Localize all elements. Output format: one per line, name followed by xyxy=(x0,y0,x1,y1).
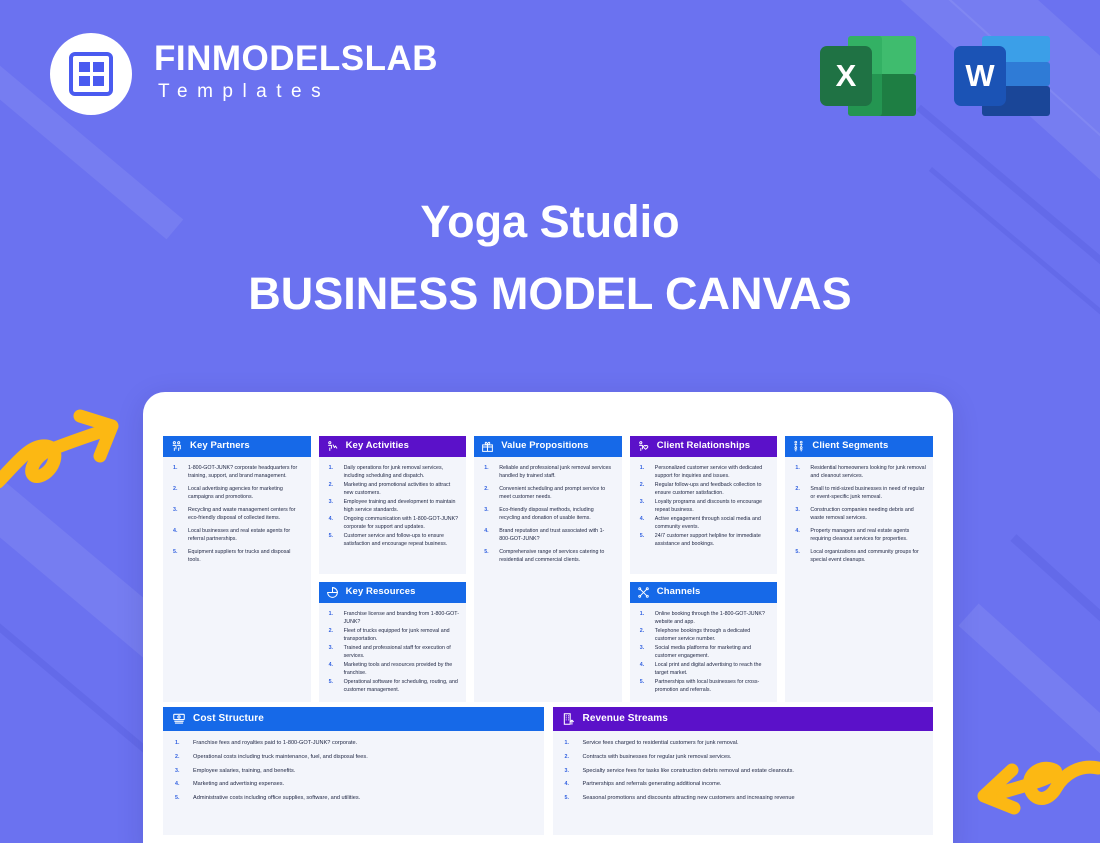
block-title: Client Relationships xyxy=(657,441,750,452)
list-item: Recycling and waste management centers f… xyxy=(171,506,304,522)
block-items: Personalized customer service with dedic… xyxy=(630,457,778,574)
block-key-resources[interactable]: Key Resources Franchise license and bran… xyxy=(319,582,467,702)
list-item: Fleet of trucks equipped for junk remova… xyxy=(327,627,460,643)
block-title: Channels xyxy=(657,587,701,598)
list-item: 24/7 customer support helpline for immed… xyxy=(638,532,771,548)
list-item: Eco-friendly disposal methods, including… xyxy=(482,506,615,522)
block-items: Online booking through the 1-800-GOT-JUN… xyxy=(630,603,778,702)
block-items: Franchise license and branding from 1-80… xyxy=(319,603,467,702)
list-item: Social media platforms for marketing and… xyxy=(638,644,771,660)
block-header: Key Resources xyxy=(319,582,467,603)
word-letter: W xyxy=(954,46,1006,106)
block-header: Revenue Streams xyxy=(553,707,934,731)
list-item: Equipment suppliers for trucks and dispo… xyxy=(171,548,304,564)
list-item: Telephone bookings through a dedicated c… xyxy=(638,627,771,643)
list-item: Operational costs including truck mainte… xyxy=(173,754,534,761)
canvas-column-5: Client Segments Residential homeowners l… xyxy=(785,436,933,702)
list-item: Convenient scheduling and prompt service… xyxy=(482,485,615,501)
money-in-icon xyxy=(562,712,576,726)
block-items: Residential homeowners looking for junk … xyxy=(785,457,933,702)
poster-stage: FINMODELSLAB Templates X W Yoga Studio B… xyxy=(0,0,1100,843)
list-item: Comprehensive range of services catering… xyxy=(482,548,615,564)
block-header: Key Partners xyxy=(163,436,311,457)
block-header: Cost Structure xyxy=(163,707,544,731)
canvas-top-grid: Key Partners 1-800-GOT-JUNK? corporate h… xyxy=(163,436,933,698)
list-item: Franchise fees and royalties paid to 1-8… xyxy=(173,740,534,747)
list-item: 1-800-GOT-JUNK? corporate headquarters f… xyxy=(171,464,304,480)
block-title: Cost Structure xyxy=(193,713,264,725)
brush-stroke xyxy=(1010,534,1100,715)
grid-squares-icon xyxy=(50,33,132,115)
brand-tagline: Templates xyxy=(154,78,438,107)
brand-name: FINMODELSLAB xyxy=(154,41,438,78)
block-title: Client Segments xyxy=(812,441,888,452)
word-icon: W xyxy=(954,30,1050,122)
block-header: Client Relationships xyxy=(630,436,778,457)
list-item: Local advertising agencies for marketing… xyxy=(171,485,304,501)
block-cost-structure[interactable]: Cost Structure Franchise fees and royalt… xyxy=(163,707,544,835)
cash-stack-icon xyxy=(172,712,186,726)
block-title: Revenue Streams xyxy=(583,713,668,725)
brand-logo: FINMODELSLAB Templates xyxy=(50,33,438,115)
block-revenue-streams[interactable]: Revenue Streams Service fees charged to … xyxy=(553,707,934,835)
canvas-column-4: Client Relationships Personalized custom… xyxy=(630,436,778,702)
person-activity-icon xyxy=(326,440,339,453)
list-item: Contracts with businesses for regular ju… xyxy=(563,754,924,761)
block-header: Channels xyxy=(630,582,778,603)
business-model-canvas-sheet: Key Partners 1-800-GOT-JUNK? corporate h… xyxy=(143,392,953,843)
list-item: Small to mid-sized businesses in need of… xyxy=(793,485,926,501)
file-format-icons: X W xyxy=(820,30,1050,122)
list-item: Local print and digital advertising to r… xyxy=(638,661,771,677)
block-key-activities[interactable]: Key Activities Daily operations for junk… xyxy=(319,436,467,574)
list-item: Partnerships and referrals generating ad… xyxy=(563,781,924,788)
block-client-relationships[interactable]: Client Relationships Personalized custom… xyxy=(630,436,778,574)
list-item: Marketing and advertising expenses. xyxy=(173,781,534,788)
two-people-icon xyxy=(170,440,183,453)
list-item: Marketing tools and resources provided b… xyxy=(327,661,460,677)
block-header: Client Segments xyxy=(785,436,933,457)
list-item: Employee training and development to mai… xyxy=(327,498,460,514)
pie-chart-icon xyxy=(326,586,339,599)
list-item: Online booking through the 1-800-GOT-JUN… xyxy=(638,610,771,626)
canvas-column-3: Value Propositions Reliable and professi… xyxy=(474,436,622,702)
canvas-column-2: Key Activities Daily operations for junk… xyxy=(319,436,467,702)
list-item: Employee salaries, training, and benefit… xyxy=(173,768,534,775)
page-subtitle: BUSINESS MODEL CANVAS xyxy=(0,268,1100,320)
gift-icon xyxy=(481,440,494,453)
canvas-column-1: Key Partners 1-800-GOT-JUNK? corporate h… xyxy=(163,436,311,702)
block-value-propositions[interactable]: Value Propositions Reliable and professi… xyxy=(474,436,622,702)
list-item: Construction companies needing debris an… xyxy=(793,506,926,522)
person-heart-icon xyxy=(637,440,650,453)
list-item: Property managers and real estate agents… xyxy=(793,527,926,543)
list-item: Active engagement through social media a… xyxy=(638,515,771,531)
list-item: Specialty service fees for tasks like co… xyxy=(563,768,924,775)
list-item: Daily operations for junk removal servic… xyxy=(327,464,460,480)
list-item: Administrative costs including office su… xyxy=(173,795,534,802)
network-nodes-icon xyxy=(637,586,650,599)
block-header: Key Activities xyxy=(319,436,467,457)
list-item: Local organizations and community groups… xyxy=(793,548,926,564)
list-item: Franchise license and branding from 1-80… xyxy=(327,610,460,626)
block-items: Service fees charged to residential cust… xyxy=(553,731,934,835)
block-key-partners[interactable]: Key Partners 1-800-GOT-JUNK? corporate h… xyxy=(163,436,311,702)
excel-letter: X xyxy=(820,46,872,106)
canvas-bottom-grid: Cost Structure Franchise fees and royalt… xyxy=(163,707,933,835)
curvy-arrow-down-left-icon xyxy=(968,752,1100,843)
list-item: Marketing and promotional activities to … xyxy=(327,481,460,497)
block-channels[interactable]: Channels Online booking through the 1-80… xyxy=(630,582,778,702)
page-title: Yoga Studio xyxy=(0,196,1100,248)
block-items: Reliable and professional junk removal s… xyxy=(474,457,622,702)
excel-icon: X xyxy=(820,30,916,122)
list-item: Brand reputation and trust associated wi… xyxy=(482,527,615,543)
list-item: Customer service and follow-ups to ensur… xyxy=(327,532,460,548)
block-title: Value Propositions xyxy=(501,441,588,452)
block-items: Franchise fees and royalties paid to 1-8… xyxy=(163,731,544,835)
list-item: Reliable and professional junk removal s… xyxy=(482,464,615,480)
list-item: Local businesses and real estate agents … xyxy=(171,527,304,543)
list-item: Residential homeowners looking for junk … xyxy=(793,464,926,480)
poster-title-block: Yoga Studio BUSINESS MODEL CANVAS xyxy=(0,196,1100,320)
brush-stroke xyxy=(958,603,1100,826)
list-item: Loyalty programs and discounts to encour… xyxy=(638,498,771,514)
block-title: Key Resources xyxy=(346,587,416,598)
list-item: Operational software for scheduling, rou… xyxy=(327,678,460,694)
block-items: 1-800-GOT-JUNK? corporate headquarters f… xyxy=(163,457,311,702)
list-item: Ongoing communication with 1-800-GOT-JUN… xyxy=(327,515,460,531)
list-item: Seasonal promotions and discounts attrac… xyxy=(563,795,924,802)
curvy-arrow-up-right-icon xyxy=(0,408,126,499)
list-item: Personalized customer service with dedic… xyxy=(638,464,771,480)
block-title: Key Activities xyxy=(346,441,409,452)
list-item: Regular follow-ups and feedback collecti… xyxy=(638,481,771,497)
list-item: Partnerships with local businesses for c… xyxy=(638,678,771,694)
block-client-segments[interactable]: Client Segments Residential homeowners l… xyxy=(785,436,933,702)
block-items: Daily operations for junk removal servic… xyxy=(319,457,467,574)
list-item: Trained and professional staff for execu… xyxy=(327,644,460,660)
block-header: Value Propositions xyxy=(474,436,622,457)
block-title: Key Partners xyxy=(190,441,250,452)
people-group-icon xyxy=(792,440,805,453)
list-item: Service fees charged to residential cust… xyxy=(563,740,924,747)
